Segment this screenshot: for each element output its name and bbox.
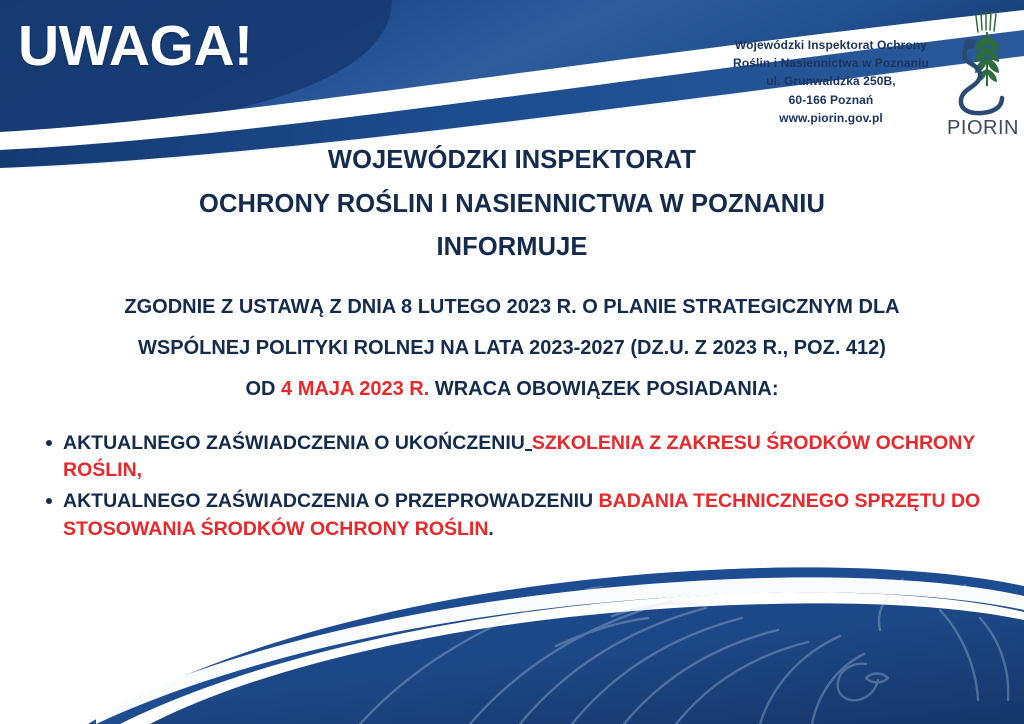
bullet-1-navy-text: AKTUALNEGO ZAŚWIADCZENIA O UKOŃCZENIU [63, 432, 525, 454]
bullet-2-period: . [488, 518, 493, 540]
banner-headline: UWAGA! [18, 18, 252, 75]
org-line-4: 60-166 Poznań [716, 91, 946, 109]
list-item: AKTUALNEGO ZAŚWIADCZENIA O UKOŃCZENIUSZK… [0, 430, 1024, 485]
underline-artifact [525, 449, 532, 451]
org-line-3: ul. Grunwaldzka 250B, [716, 72, 946, 90]
piorin-logo: PIORIN [948, 8, 1018, 140]
poster-canvas: UWAGA! Wojewódzki Inspektorat Ochrony Ro… [0, 0, 1024, 724]
bullet-2-navy-text: AKTUALNEGO ZAŚWIADCZENIA O PRZEPROWADZEN… [63, 490, 599, 512]
requirements-list: AKTUALNEGO ZAŚWIADCZENIA O UKOŃCZENIUSZK… [0, 430, 1024, 544]
legal-line-2: WSPÓLNEJ POLITYKI ROLNEJ NA LATA 2023-20… [0, 338, 1024, 358]
legal-line-3-prefix: OD [245, 378, 281, 400]
page-title: WOJEWÓDZKI INSPEKTORAT OCHRONY ROŚLIN I … [0, 148, 1024, 261]
legal-line-3: OD 4 MAJA 2023 R. WRACA OBOWIĄZEK POSIAD… [0, 379, 1024, 399]
legal-reference: ZGODNIE Z USTAWĄ Z DNIA 8 LUTEGO 2023 R.… [0, 297, 1024, 399]
org-line-1: Wojewódzki Inspektorat Ochrony [716, 36, 946, 54]
org-website: www.piorin.gov.pl [716, 109, 946, 127]
list-item: AKTUALNEGO ZAŚWIADCZENIA O PRZEPROWADZEN… [0, 488, 1024, 543]
title-line-3: INFORMUJE [0, 235, 1024, 261]
title-line-2: OCHRONY ROŚLIN I NASIENNICTWA W POZNANIU [0, 192, 1024, 218]
legal-line-3-suffix: WRACA OBOWIĄZEK POSIADANIA: [429, 378, 778, 400]
bullet-dot-icon [46, 440, 52, 446]
organisation-address: Wojewódzki Inspektorat Ochrony Roślin i … [716, 36, 946, 127]
main-content: WOJEWÓDZKI INSPEKTORAT OCHRONY ROŚLIN I … [0, 148, 1024, 546]
legal-line-1: ZGODNIE Z USTAWĄ Z DNIA 8 LUTEGO 2023 R.… [0, 297, 1024, 317]
piorin-wordmark: PIORIN [948, 117, 1018, 139]
org-line-2: Roślin i Nasiennictwa w Poznaniu [716, 54, 946, 72]
title-line-1: WOJEWÓDZKI INSPEKTORAT [0, 148, 1024, 174]
effective-date-highlight: 4 MAJA 2023 R. [281, 378, 429, 400]
bullet-dot-icon [46, 498, 52, 504]
